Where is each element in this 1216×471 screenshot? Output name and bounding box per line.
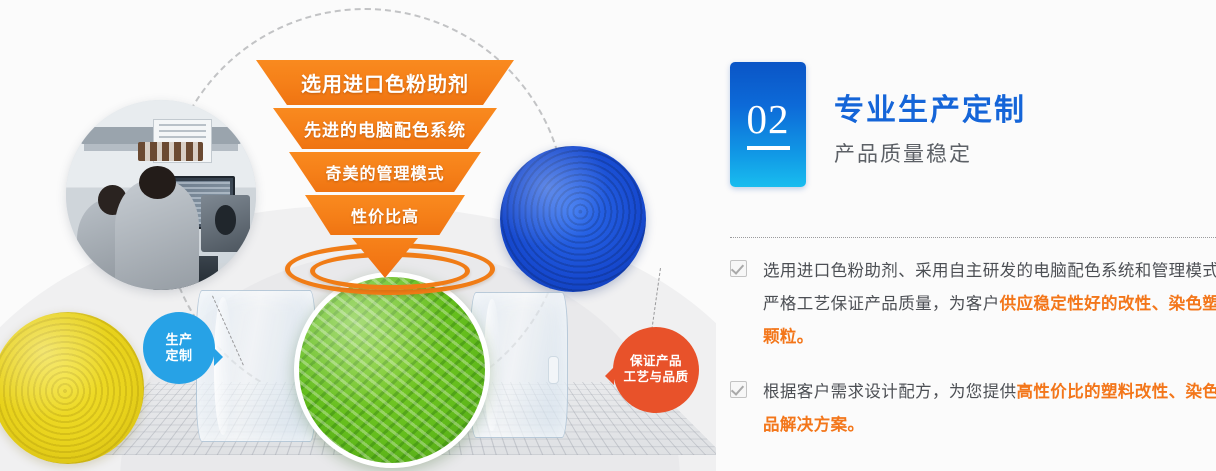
funnel-level-1: 选用进口色粉助剂 <box>256 60 514 105</box>
badge-quality-line-2: 工艺与品质 <box>623 370 688 386</box>
section-heading-group: 专业生产定制 产品质量稳定 <box>834 62 1026 168</box>
photo-instrument <box>201 195 250 252</box>
product-illustration: 选用进口色粉助剂 先进的电脑配色系统 奇美的管理模式 性价比高 生产 定制 保证… <box>0 0 716 471</box>
check-icon <box>730 381 747 398</box>
lab-photo-circle <box>66 100 256 290</box>
list-item: 根据客户需求设计配方，为您提供高性价比的塑料改性、染色产 品解决方案。 <box>730 376 1216 442</box>
section-content: 02 专业生产定制 产品质量稳定 选用进口色粉助剂、采用自主研发的电脑配色系统和… <box>716 0 1216 471</box>
blue-pigment-powder-circle <box>500 146 646 292</box>
feature-1-line-1: 选用进口色粉助剂、采用自主研发的电脑配色系统和管理模式， <box>763 262 1216 280</box>
feature-1-line-2-highlight: 供应稳定性好的改性、染色塑料 <box>1000 295 1216 313</box>
green-pellets-circle <box>294 272 490 468</box>
badge-quality-line-1: 保证产品 <box>623 354 688 370</box>
badge-production-custom: 生产 定制 <box>143 312 215 384</box>
list-item: 选用进口色粉助剂、采用自主研发的电脑配色系统和管理模式， 严格工艺保证产品质量，… <box>730 255 1216 354</box>
funnel-tip <box>352 238 418 278</box>
promo-banner: 选用进口色粉助剂 先进的电脑配色系统 奇美的管理模式 性价比高 生产 定制 保证… <box>0 0 1216 471</box>
feature-1-line-3-highlight: 颗粒。 <box>763 321 1216 354</box>
feature-2-line-1-highlight: 高性价比的塑料改性、染色产 <box>1017 383 1216 401</box>
funnel-level-4: 性价比高 <box>305 195 465 235</box>
section-number-box: 02 <box>730 62 806 187</box>
cylinder-knob <box>548 356 559 384</box>
feature-text-1: 选用进口色粉助剂、采用自主研发的电脑配色系统和管理模式， 严格工艺保证产品质量，… <box>763 255 1216 354</box>
badge-production-line-2: 定制 <box>165 348 192 364</box>
check-icon <box>730 260 747 277</box>
funnel-level-3: 奇美的管理模式 <box>289 152 481 192</box>
photo-knob-rack <box>138 142 203 161</box>
badge-production-line-1: 生产 <box>165 332 192 348</box>
photo-worker-two <box>115 180 199 290</box>
feature-1-line-2-plain: 严格工艺保证产品质量，为客户 <box>763 295 1000 313</box>
feature-text-2: 根据客户需求设计配方，为您提供高性价比的塑料改性、染色产 品解决方案。 <box>763 376 1216 442</box>
feature-2-line-2-highlight: 品解决方案。 <box>763 409 1216 442</box>
funnel-level-2: 先进的电脑配色系统 <box>273 108 497 149</box>
section-header: 02 专业生产定制 产品质量稳定 <box>730 62 1026 187</box>
badge-quality-assurance: 保证产品 工艺与品质 <box>613 327 699 413</box>
feature-1-line-2-wrap: 严格工艺保证产品质量，为客户供应稳定性好的改性、染色塑料 <box>763 288 1216 321</box>
funnel-diagram: 选用进口色粉助剂 先进的电脑配色系统 奇美的管理模式 性价比高 <box>255 60 515 275</box>
feature-2-line-1-plain: 根据客户需求设计配方，为您提供 <box>763 383 1017 401</box>
section-title: 专业生产定制 <box>834 94 1026 129</box>
header-divider <box>730 237 1216 238</box>
feature-list: 选用进口色粉助剂、采用自主研发的电脑配色系统和管理模式， 严格工艺保证产品质量，… <box>730 255 1216 464</box>
section-number: 02 <box>747 99 790 150</box>
section-subtitle: 产品质量稳定 <box>834 138 1026 168</box>
